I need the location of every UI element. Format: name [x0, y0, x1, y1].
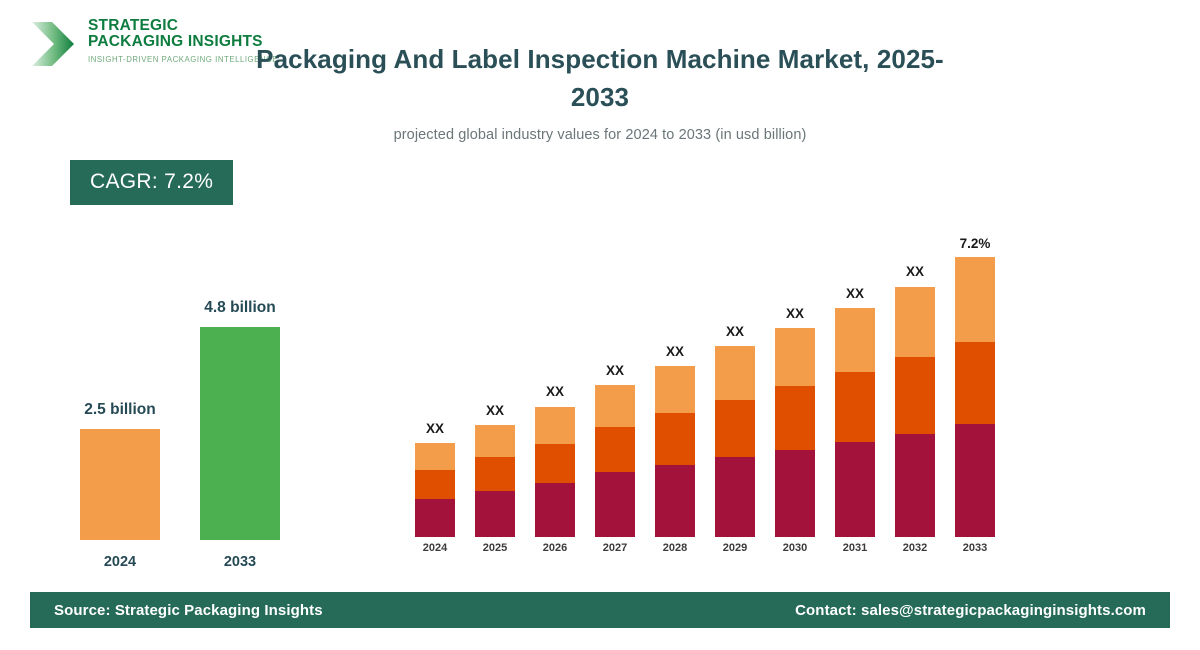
stacked-bar-2024 — [415, 443, 455, 537]
stacked-bar-value-label-2024: XX — [399, 421, 471, 436]
stack-segment-segment-top-2024 — [415, 443, 455, 470]
comparison-bar-2033 — [200, 327, 280, 540]
stacked-bar-2028 — [655, 366, 695, 537]
stacked-bar-value-label-2030: XX — [759, 306, 831, 321]
stacked-bar-year-label-2031: 2031 — [827, 542, 883, 554]
stacked-bar-column-2029: XX2029 — [715, 190, 755, 550]
stacked-bar-column-2027: XX2027 — [595, 190, 635, 550]
stacked-bar-2029 — [715, 346, 755, 537]
stacked-bar-column-2025: XX2025 — [475, 190, 515, 550]
stack-segment-segment-middle-2026 — [535, 444, 575, 483]
stacked-bar-year-label-2032: 2032 — [887, 542, 943, 554]
stack-segment-segment-top-2029 — [715, 346, 755, 400]
chart-page: STRATEGIC PACKAGING INSIGHTS INSIGHT-DRI… — [0, 0, 1200, 650]
stacked-bar-value-label-2032: XX — [879, 264, 951, 279]
stacked-bar-value-label-2026: XX — [519, 384, 591, 399]
stack-segment-segment-top-2026 — [535, 407, 575, 444]
stacked-bar-value-label-2033: 7.2% — [939, 236, 1011, 251]
stack-segment-segment-top-2031 — [835, 308, 875, 372]
stack-segment-segment-middle-2032 — [895, 357, 935, 434]
stacked-bar-column-2033: 7.2%2033 — [955, 190, 995, 550]
stacked-bar-2032 — [895, 287, 935, 537]
logo-line-1: STRATEGIC — [88, 18, 278, 34]
green-chevron-icon — [30, 18, 80, 70]
stacked-bar-column-2024: XX2024 — [415, 190, 455, 550]
stacked-bar-column-2028: XX2028 — [655, 190, 695, 550]
brand-logo: STRATEGIC PACKAGING INSIGHTS INSIGHT-DRI… — [30, 14, 250, 76]
comparison-year-label-2024: 2024 — [80, 554, 160, 570]
stack-segment-segment-bottom-2027 — [595, 472, 635, 537]
stack-segment-segment-bottom-2026 — [535, 483, 575, 537]
comparison-value-label-2024: 2.5 billion — [35, 401, 205, 419]
stack-segment-segment-bottom-2032 — [895, 434, 935, 537]
stacked-bar-year-label-2030: 2030 — [767, 542, 823, 554]
stacked-bar-2033 — [955, 257, 995, 537]
projected-market-stacked-chart: XX2024XX2025XX2026XX2027XX2028XX2029XX20… — [400, 190, 1020, 550]
stacked-bar-value-label-2029: XX — [699, 324, 771, 339]
page-title: Packaging And Label Inspection Machine M… — [230, 40, 970, 116]
stack-segment-segment-top-2027 — [595, 385, 635, 427]
stacked-bar-2030 — [775, 328, 815, 537]
stacked-bar-value-label-2025: XX — [459, 403, 531, 418]
stacked-bar-column-2026: XX2026 — [535, 190, 575, 550]
stack-segment-segment-middle-2029 — [715, 400, 755, 457]
stack-segment-segment-bottom-2029 — [715, 457, 755, 537]
stacked-bar-value-label-2031: XX — [819, 286, 891, 301]
stacked-bar-value-label-2028: XX — [639, 344, 711, 359]
stacked-bar-column-2032: XX2032 — [895, 190, 935, 550]
stacked-bar-year-label-2028: 2028 — [647, 542, 703, 554]
stacked-bar-year-label-2026: 2026 — [527, 542, 583, 554]
footer-source: Source: Strategic Packaging Insights — [54, 602, 323, 619]
footer-contact: Contact: sales@strategicpackaginginsight… — [795, 602, 1146, 619]
stack-segment-segment-bottom-2033 — [955, 424, 995, 537]
stack-segment-segment-top-2032 — [895, 287, 935, 357]
stacked-bar-2025 — [475, 425, 515, 537]
stack-segment-segment-top-2028 — [655, 366, 695, 413]
stack-segment-segment-middle-2025 — [475, 457, 515, 491]
footer-bar: Source: Strategic Packaging Insights Con… — [30, 592, 1170, 628]
stacked-bar-year-label-2029: 2029 — [707, 542, 763, 554]
page-subtitle: projected global industry values for 202… — [230, 127, 970, 143]
stack-segment-segment-bottom-2031 — [835, 442, 875, 537]
stacked-bar-year-label-2024: 2024 — [407, 542, 463, 554]
stacked-bar-column-2030: XX2030 — [775, 190, 815, 550]
stacked-bar-2026 — [535, 407, 575, 537]
comparison-value-label-2033: 4.8 billion — [155, 299, 325, 317]
stacked-bar-value-label-2027: XX — [579, 363, 651, 378]
stack-segment-segment-top-2030 — [775, 328, 815, 386]
stack-segment-segment-bottom-2028 — [655, 465, 695, 537]
stacked-bar-column-2031: XX2031 — [835, 190, 875, 550]
stack-segment-segment-middle-2027 — [595, 427, 635, 472]
stack-segment-segment-bottom-2024 — [415, 499, 455, 537]
stack-segment-segment-middle-2033 — [955, 342, 995, 424]
stack-segment-segment-top-2025 — [475, 425, 515, 457]
stacked-bar-year-label-2027: 2027 — [587, 542, 643, 554]
stack-segment-segment-bottom-2025 — [475, 491, 515, 537]
stack-segment-segment-middle-2024 — [415, 470, 455, 499]
cagr-badge: CAGR: 7.2% — [70, 160, 233, 205]
stack-segment-segment-bottom-2030 — [775, 450, 815, 537]
market-size-comparison-chart: 2.5 billion20244.8 billion2033 — [50, 300, 280, 570]
stacked-bar-year-label-2025: 2025 — [467, 542, 523, 554]
comparison-year-label-2033: 2033 — [200, 554, 280, 570]
stack-segment-segment-middle-2030 — [775, 386, 815, 450]
stack-segment-segment-top-2033 — [955, 257, 995, 342]
title-block: Packaging And Label Inspection Machine M… — [230, 40, 970, 143]
stacked-bar-year-label-2033: 2033 — [947, 542, 1003, 554]
comparison-bar-2024 — [80, 429, 160, 540]
stacked-bar-2031 — [835, 308, 875, 537]
stack-segment-segment-middle-2028 — [655, 413, 695, 465]
stacked-bar-2027 — [595, 385, 635, 537]
stack-segment-segment-middle-2031 — [835, 372, 875, 442]
